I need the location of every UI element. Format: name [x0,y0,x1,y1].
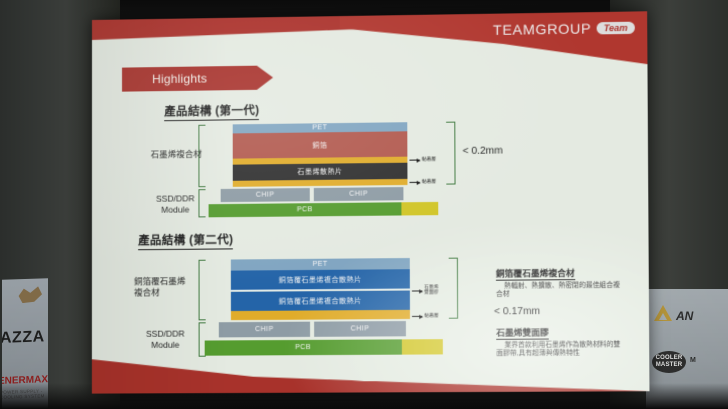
gen2-chip-left: CHIP [219,322,310,338]
gen2-adhesive-note: 黏著層 [424,313,438,318]
teamgroup-logo: TEAMGROUP Team [493,20,635,38]
note2-heading: 石墨烯雙面膠 [496,326,549,340]
gen1-module-label: SSD/DDR Module [146,193,204,216]
logo-wordmark: TEAMGROUP [493,20,591,38]
gen1-adhesive-note-lower: 黏著層 [422,179,436,184]
note-graphene-double-sided-tape: 石墨烯雙面膠 業界首款利用石墨烯作為散熱材料的雙面膠帶,具有超薄與傳熱特性 [496,322,622,359]
note2-body: 業界首款利用石墨烯作為散熱材料的雙面膠帶,具有超薄與傳熱特性 [496,341,622,359]
slide-canvas: TEAMGROUP Team Highlights 產品結構 (第一代) 石墨烯… [92,11,650,393]
gen2-tape-arrow [412,290,422,291]
highlights-chevron-banner: Highlights [122,65,273,91]
gen1-adhesive-arrow-lower [410,182,420,183]
gen2-layer-composite-lower: 銅箔覆石墨烯複合散熱片 [231,291,410,312]
gen1-adhesive-arrow-upper [409,160,419,161]
logo-team-badge: Team [596,22,634,35]
cm-badge-line2: MASTER [656,362,683,368]
gen2-pcb-gold-edge [402,339,443,354]
conference-slide-photo: AZZA ENERMAX POWER SUPPLY - COOLING SYST… [0,0,728,409]
gen1-layer-graphene-sheet: 石墨烯散熱片 [233,163,408,181]
gen1-chip-right: CHIP [314,187,404,201]
banner-left-brand-top: AZZA [2,328,45,348]
gen1-thickness-bracket [446,122,455,185]
gen1-adhesive-note-upper: 黏著層 [422,156,436,161]
note1-body: 熱輻射、熱擴散、熱密閉的最佳組合複合材 [496,282,622,300]
gen1-chip-left: CHIP [221,188,310,202]
section1-title: 產品結構 (第一代) [164,102,259,121]
gen2-composite-bracket [199,260,206,321]
gen1-composite-label: 石墨烯複合材 [148,149,204,161]
paw-logo-icon [16,284,42,303]
gen2-double-sided-note: 石墨烯 雙面膠 [424,284,438,295]
cooler-master-badge-icon: COOLER MASTER [652,351,686,373]
cm-badge-line1: COOLER [656,355,683,361]
gen2-pcb: PCB [205,339,402,355]
gen2-adhesive-arrow [412,316,422,317]
gen1-pcb: PCB [209,202,402,217]
gen2-layer-composite-upper: 銅箔覆石墨烯複合散熱片 [231,269,410,290]
banner-right-brand-side: M [690,357,696,364]
note-copper-graphene-composite: 銅箔覆石墨烯複合材 熱輻射、熱擴散、熱密閉的最佳組合複合材 [496,262,622,299]
note1-heading: 銅箔覆石墨烯複合材 [496,267,575,281]
gen2-composite-label: 銅箔覆石墨烯 複合材 [134,276,198,299]
gen1-pcb-gold-edge [401,202,438,216]
product-structure-gen1-diagram: 石墨烯複合材 SSD/DDR Module PET 銅箔 石墨烯散熱片 CHIP… [152,118,559,216]
gen2-layer-adhesive [231,310,410,320]
gen2-thickness-bracket [449,258,458,319]
banner-right-brand-text: AN [676,309,693,323]
gen2-thickness-value: < 0.17mm [494,306,540,318]
projection-screen: TEAMGROUP Team Highlights 產品結構 (第一代) 石墨烯… [92,11,650,393]
gen1-layer-copper-foil: 銅箔 [233,131,408,158]
gen2-module-label: SSD/DDR Module [134,328,197,351]
highlights-label: Highlights [152,71,207,86]
gen2-chip-right: CHIP [314,321,406,337]
gen1-layer-adhesive-lower [233,179,408,187]
triangle-logo-inner-icon [659,313,667,320]
section2-title: 產品結構 (第二代) [138,231,233,250]
gen1-thickness-value: < 0.2mm [463,145,503,157]
